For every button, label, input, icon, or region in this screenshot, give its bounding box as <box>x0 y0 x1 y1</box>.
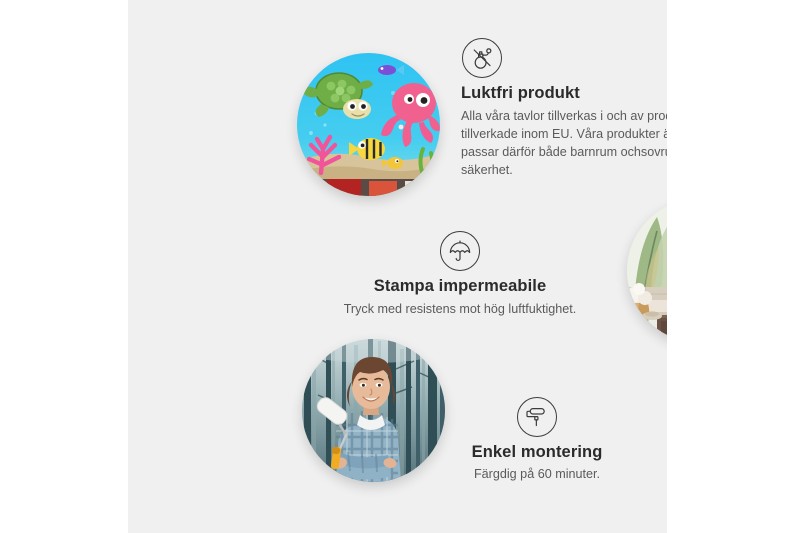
umbrella-icon <box>440 231 480 271</box>
feature-title: Luktfri produkt <box>461 84 667 103</box>
page-root: Luktfri produkt Alla våra tavlor tillver… <box>0 0 800 533</box>
photo-underwater <box>297 53 440 196</box>
feature-title: Enkel montering <box>419 443 655 462</box>
feature-body: Färgdig på 60 minuter. <box>419 466 655 484</box>
photo-bathroom <box>627 199 667 342</box>
feature-title: Stampa impermeabile <box>311 277 609 296</box>
feature-body: Alla våra tavlor tillverkas i och av pro… <box>461 108 667 180</box>
feature-waterproof: Stampa impermeabile Tryck med resistens … <box>311 231 609 319</box>
feature-mounting: Enkel montering Färgdig på 60 minuter. <box>419 397 655 484</box>
paint-roller-icon <box>517 397 557 437</box>
no-odour-icon <box>462 38 502 78</box>
feature-body: Tryck med resistens mot hög luftfuktighe… <box>311 301 609 319</box>
feature-odourless: Luktfri produkt Alla våra tavlor tillver… <box>460 38 667 180</box>
content-panel: Luktfri produkt Alla våra tavlor tillver… <box>128 0 667 533</box>
